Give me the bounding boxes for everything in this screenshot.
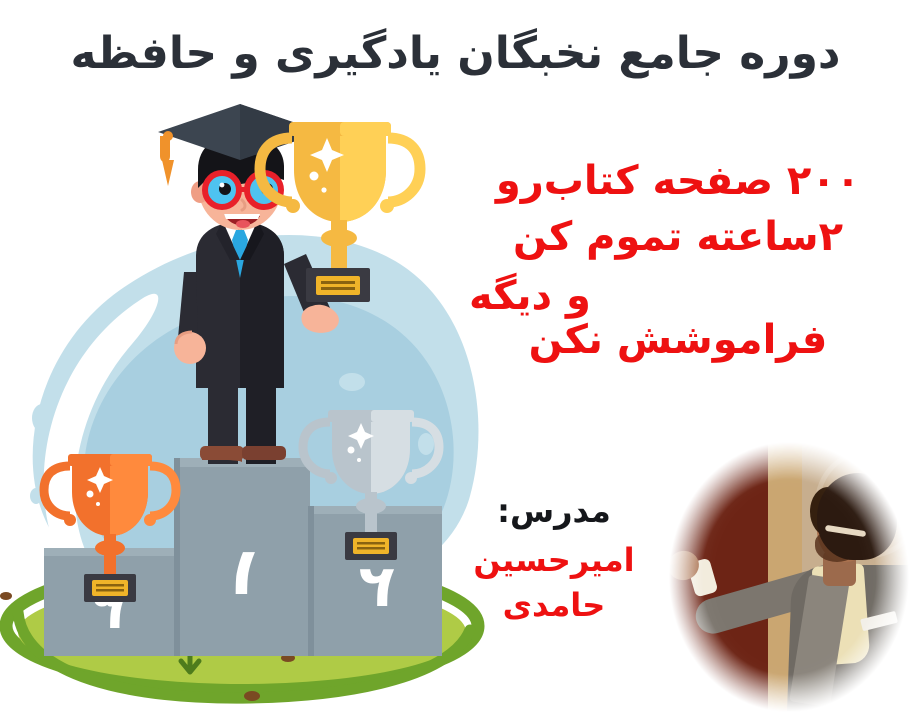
instructor-block: مدرس: امیرحسین حامدی [459,492,649,625]
instructor-label: مدرس: [459,492,649,531]
instructor-photo [660,432,911,720]
page-title: دوره جامع نخبگان یادگیری و حافظه [0,26,911,81]
promo-banner: ۳ ۱ ۲ [0,0,911,720]
illustration-svg: ۳ ۱ ۲ [0,96,500,720]
promo-line-hours: ۲ساعته تموم کن [463,216,893,258]
podium-block-1: ۱ [178,458,310,656]
promo-line-pages: ۲۰۰ صفحه کتاب‌رو [463,160,893,202]
podium-illustration: ۳ ۱ ۲ [0,96,500,720]
photo-vignette [660,432,911,720]
promo-line-andmore: و دیگه [463,275,893,317]
promo-line-forget: فراموشش نکن [463,319,893,361]
instructor-photo-circle [660,432,911,720]
podium-rank-2: ۲ [359,552,394,620]
promo-text-block: ۲۰۰ صفحه کتاب‌رو ۲ساعته تموم کن و دیگه ف… [463,160,893,362]
instructor-name-line1: امیرحسین [459,541,649,580]
podium-rank-1: ۱ [224,533,264,610]
instructor-name-line2: حامدی [459,586,649,625]
